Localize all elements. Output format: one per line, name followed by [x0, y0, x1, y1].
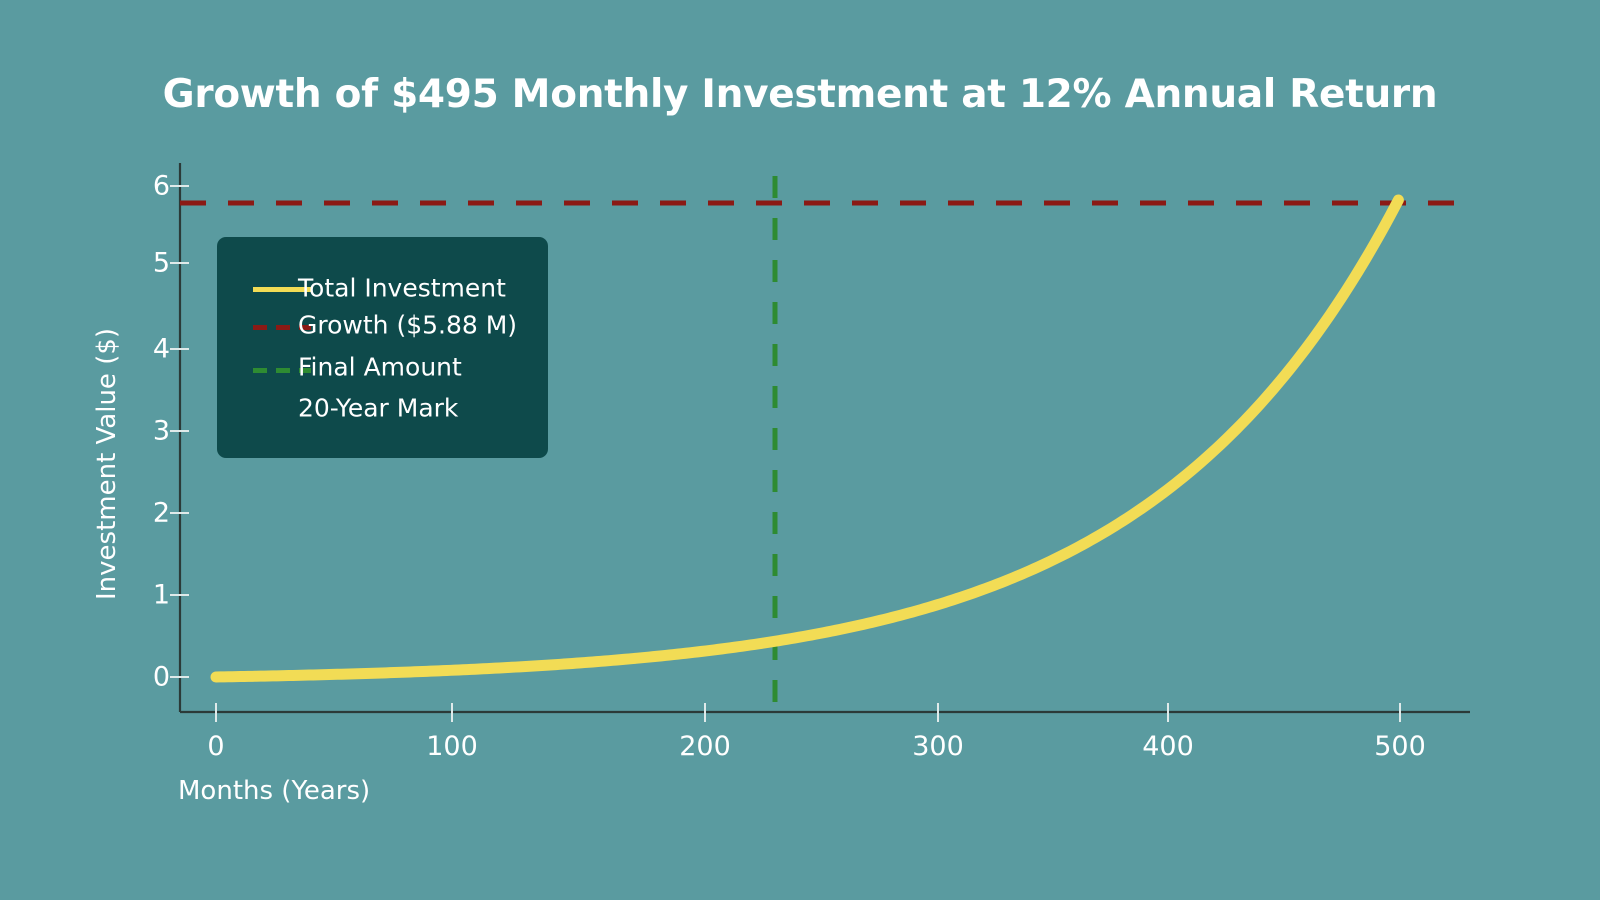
legend-label-line-1: Total Investment: [298, 274, 506, 303]
legend-label-line-2: Growth ($5.88 M): [298, 311, 517, 340]
chart-legend[interactable]: Total Investment Growth ($5.88 M) Final …: [217, 237, 548, 458]
legend-label-line-4: 20-Year Mark: [298, 394, 458, 423]
chart-figure: Growth of $495 Monthly Investment at 12%…: [0, 0, 1600, 900]
legend-label-line-3: Final Amount: [298, 353, 462, 382]
